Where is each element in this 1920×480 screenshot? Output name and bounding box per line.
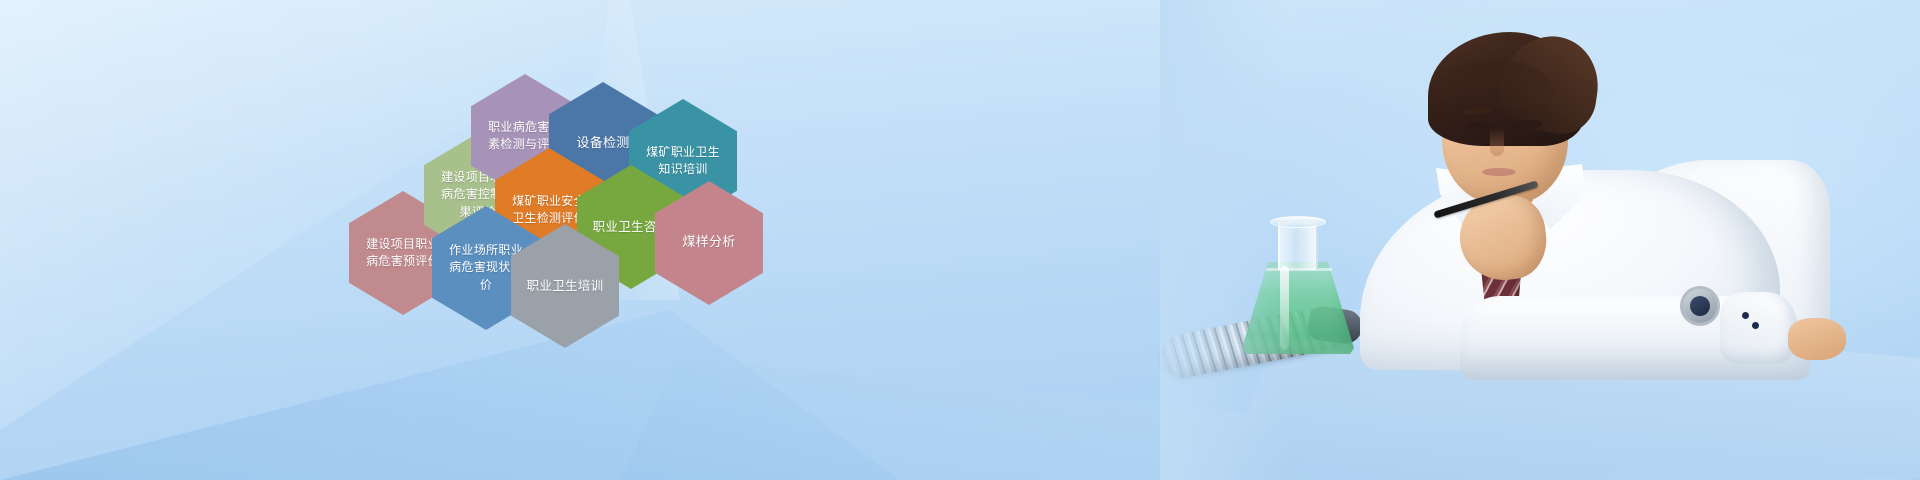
hexagon-label: 煤样分析 [682, 234, 735, 253]
flask-highlight [1280, 266, 1289, 350]
mouth [1482, 168, 1516, 176]
nose [1490, 128, 1504, 156]
hexagon-label: 设备检测 [576, 135, 629, 154]
erlenmeyer-flask-neck [1278, 222, 1318, 270]
shirt-cuff [1720, 292, 1796, 364]
cuff-button [1742, 312, 1749, 319]
service-hexagon-cluster: 建设项目职业病危害预评价 建设项目职业病危害控制效果评价 职业病危害因素检测与评… [0, 0, 800, 400]
hexagon-label: 煤矿职业卫生知识培训 [640, 144, 726, 179]
eye-right [1516, 120, 1542, 128]
cuff-button [1752, 322, 1759, 329]
hexagon-label: 职业卫生培训 [527, 277, 604, 295]
eye-left [1466, 122, 1490, 130]
banner-root: 建设项目职业病危害预评价 建设项目职业病危害控制效果评价 职业病危害因素检测与评… [0, 0, 1920, 480]
hand-far [1788, 318, 1846, 360]
erlenmeyer-flask-lip [1270, 216, 1326, 228]
erlenmeyer-flask-body [1242, 262, 1354, 354]
photo-subject-group [1160, 0, 1920, 480]
watch-face [1690, 296, 1710, 316]
